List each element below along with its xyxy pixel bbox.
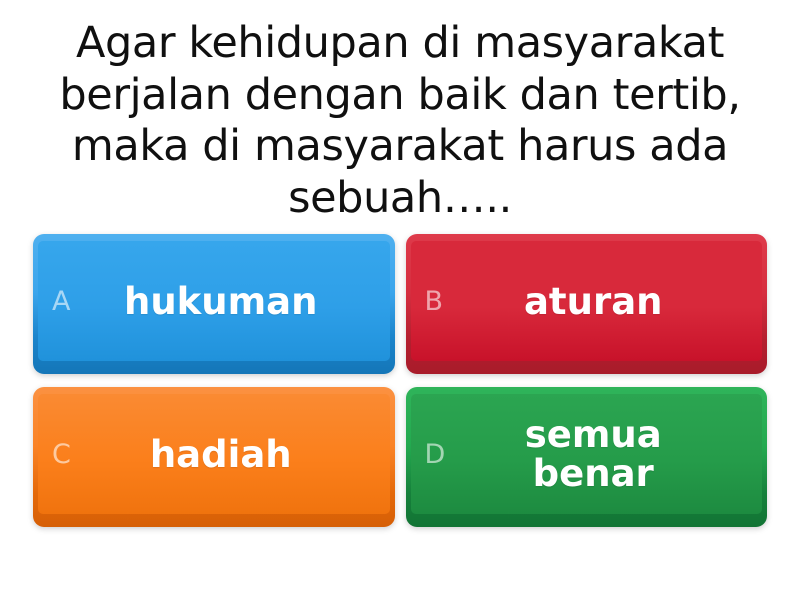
question-area: Agar kehidupan di masyarakat berjalan de… <box>0 0 800 228</box>
question-text: Agar kehidupan di masyarakat berjalan de… <box>24 18 776 224</box>
answer-label-c: hadiah <box>86 435 378 475</box>
answer-letter-a: A <box>52 288 86 315</box>
answer-letter-b: B <box>425 288 459 315</box>
answer-letter-d: D <box>425 441 459 468</box>
answer-option-d[interactable]: D semua benar <box>406 387 768 527</box>
answer-letter-c: C <box>52 441 86 468</box>
answer-label-b: aturan <box>459 282 751 322</box>
answer-option-b-content: B aturan <box>411 241 763 361</box>
quiz-card: Agar kehidupan di masyarakat berjalan de… <box>0 0 800 600</box>
answer-option-a-content: A hukuman <box>38 241 390 361</box>
answer-option-c[interactable]: C hadiah <box>33 387 395 527</box>
answer-options-grid: A hukuman B aturan C hadiah D <box>0 228 800 559</box>
answer-option-a[interactable]: A hukuman <box>33 234 395 374</box>
answer-option-d-content: D semua benar <box>411 394 763 514</box>
answer-label-d: semua benar <box>459 415 751 494</box>
answer-option-b[interactable]: B aturan <box>406 234 768 374</box>
answer-label-a: hukuman <box>86 282 378 322</box>
answer-option-c-content: C hadiah <box>38 394 390 514</box>
